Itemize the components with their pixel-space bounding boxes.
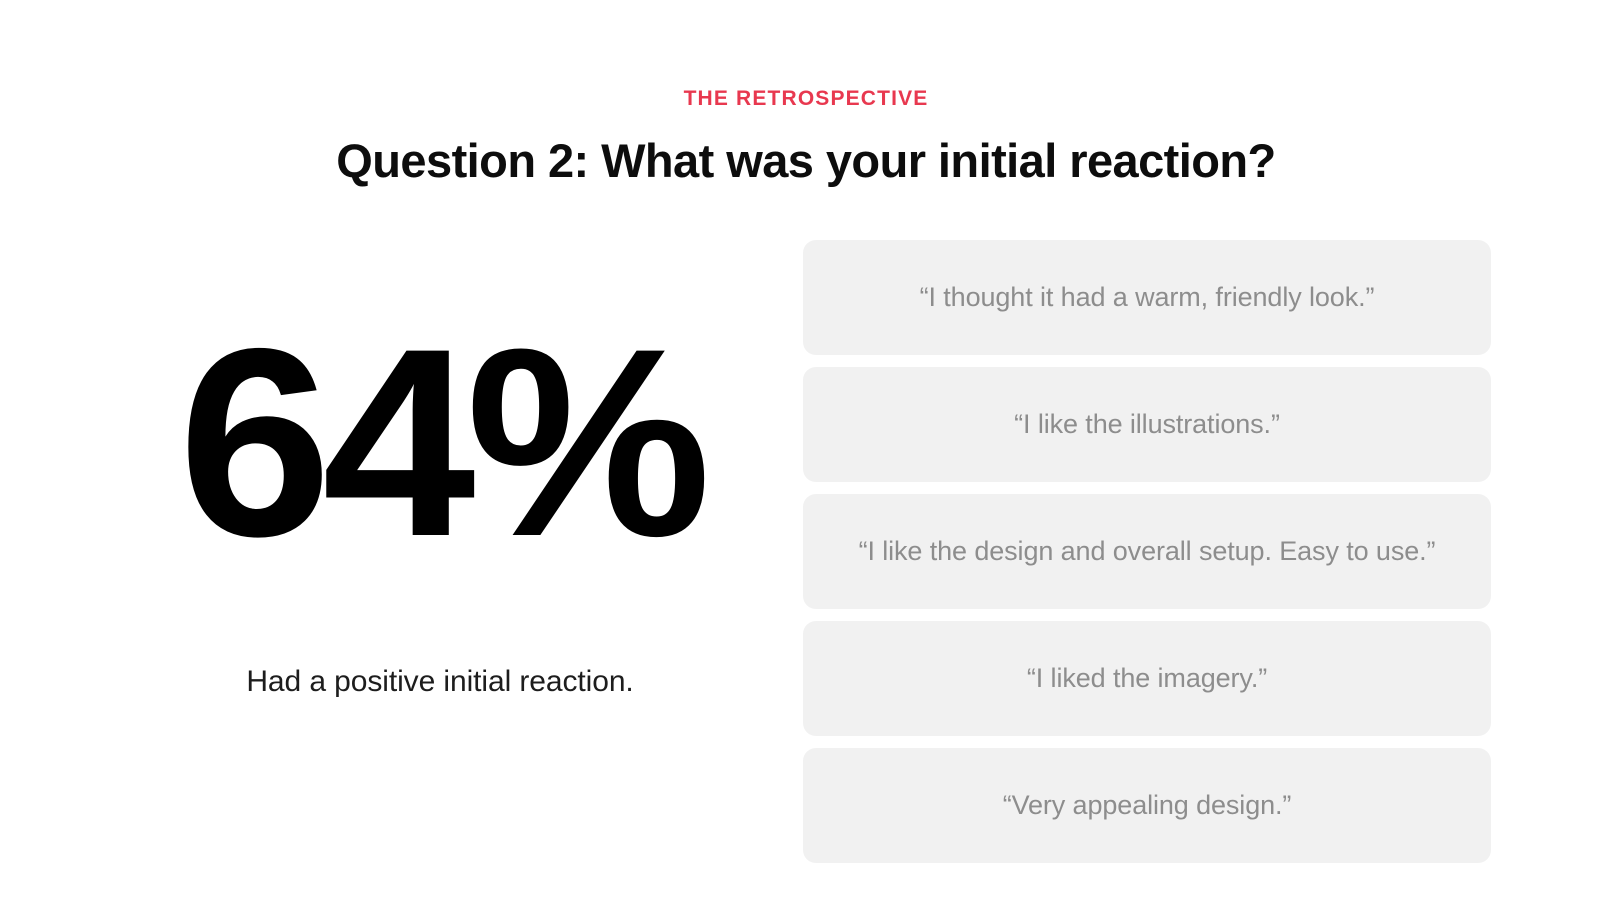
quote-card: “Very appealing design.” bbox=[803, 748, 1491, 863]
retrospective-slide: THE RETROSPECTIVE Question 2: What was y… bbox=[0, 0, 1612, 907]
quote-text: “I liked the imagery.” bbox=[1027, 662, 1267, 696]
quote-text: “I like the design and overall setup. Ea… bbox=[859, 535, 1436, 569]
quote-text: “Very appealing design.” bbox=[1003, 789, 1292, 823]
slide-body: 64% Had a positive initial reaction. “I … bbox=[0, 238, 1612, 878]
quote-text: “I like the illustrations.” bbox=[1014, 408, 1280, 442]
stat-caption: Had a positive initial reaction. bbox=[60, 576, 820, 700]
quote-card: “I thought it had a warm, friendly look.… bbox=[803, 240, 1491, 355]
page-title: Question 2: What was your initial reacti… bbox=[0, 109, 1612, 185]
slide-header: THE RETROSPECTIVE Question 2: What was y… bbox=[0, 88, 1612, 185]
quote-card: “I like the design and overall setup. Ea… bbox=[803, 494, 1491, 609]
quote-card: “I like the illustrations.” bbox=[803, 367, 1491, 482]
slide-eyebrow: THE RETROSPECTIVE bbox=[0, 88, 1612, 109]
stat-block: 64% Had a positive initial reaction. bbox=[60, 238, 820, 700]
quote-text: “I thought it had a warm, friendly look.… bbox=[920, 281, 1375, 315]
stat-value: 64% bbox=[49, 238, 832, 576]
quote-card-list: “I thought it had a warm, friendly look.… bbox=[803, 240, 1491, 863]
quote-card: “I liked the imagery.” bbox=[803, 621, 1491, 736]
